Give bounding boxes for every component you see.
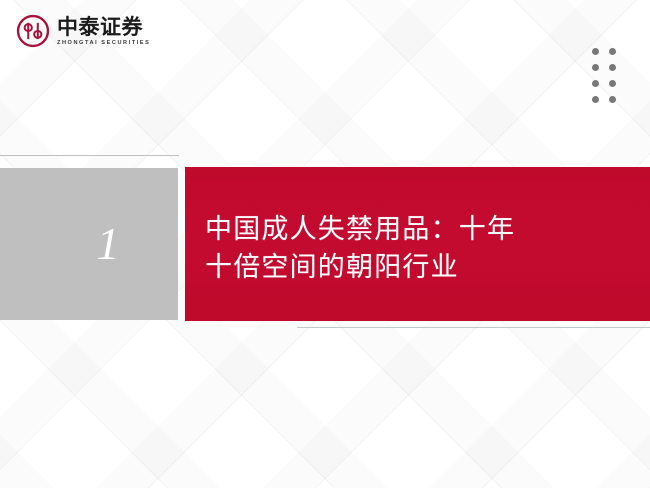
dot-icon	[592, 48, 599, 55]
section-title-banner: 中国成人失禁用品：十年 十倍空间的朝阳行业	[185, 167, 650, 321]
brand-name-en: ZHONGTAI SECURITIES	[57, 41, 150, 47]
zhongtai-circle-emblem-icon	[16, 14, 50, 48]
section-number-box: 1	[0, 168, 178, 320]
dot-icon	[592, 64, 599, 71]
dot-icon	[592, 80, 599, 87]
divider-below-banner	[297, 327, 650, 328]
dot-grid-decoration	[592, 48, 616, 103]
divider-top-left	[0, 155, 179, 156]
brand-logo: 中泰证券 ZHONGTAI SECURITIES	[16, 14, 150, 48]
dot-icon	[609, 96, 616, 103]
dot-icon	[609, 48, 616, 55]
brand-logo-text: 中泰证券 ZHONGTAI SECURITIES	[57, 16, 150, 46]
section-title: 中国成人失禁用品：十年 十倍空间的朝阳行业	[205, 211, 515, 288]
presentation-slide: 中泰证券 ZHONGTAI SECURITIES 1 中国成人失禁用品：十年 十…	[0, 0, 650, 488]
dot-icon	[609, 80, 616, 87]
section-number: 1	[0, 221, 178, 267]
dot-icon	[592, 96, 599, 103]
dot-icon	[609, 64, 616, 71]
brand-name-cn: 中泰证券	[57, 16, 150, 39]
